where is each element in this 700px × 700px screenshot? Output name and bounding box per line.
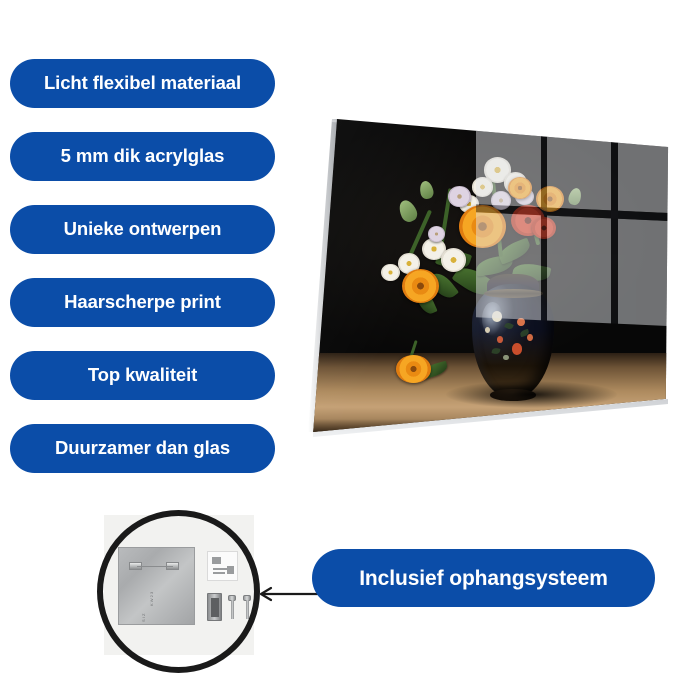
flower-lilac bbox=[428, 226, 445, 242]
mounting-hardware-circle: K W 2 3 S I Z bbox=[97, 510, 260, 673]
flower-daisy bbox=[381, 264, 400, 281]
feature-pill-label: Duurzamer dan glas bbox=[55, 439, 230, 458]
feature-pill-label: 5 mm dik acrylglas bbox=[61, 147, 225, 166]
circle-outline bbox=[97, 510, 260, 673]
feature-pill-label: Licht flexibel materiaal bbox=[44, 74, 241, 93]
vase-rim bbox=[484, 289, 543, 298]
callout-pill-hanging-system[interactable]: Inclusief ophangsysteem bbox=[312, 549, 655, 607]
flower-marigold-fallen bbox=[396, 355, 431, 383]
vase-motif bbox=[497, 336, 504, 343]
flower-daisy bbox=[472, 177, 493, 196]
vase-motif bbox=[503, 355, 509, 361]
vase-motif bbox=[527, 334, 533, 341]
feature-pill-5[interactable]: Top kwaliteit bbox=[10, 351, 275, 400]
product-marketing-graphic: Licht flexibel materiaal 5 mm dik acrylg… bbox=[0, 0, 700, 700]
feature-pill-6[interactable]: Duurzamer dan glas bbox=[10, 424, 275, 473]
flower-daisy bbox=[441, 248, 466, 271]
feature-pill-label: Haarscherpe print bbox=[64, 293, 221, 312]
artwork-canvas bbox=[305, 98, 677, 443]
flower-marigold bbox=[459, 205, 506, 248]
arrow-left-icon bbox=[252, 586, 322, 602]
flower-marigold bbox=[402, 269, 439, 304]
acrylic-glass-panel bbox=[305, 98, 677, 443]
flower-lilac bbox=[448, 186, 470, 207]
feature-pill-label: Top kwaliteit bbox=[88, 366, 197, 385]
feature-pill-1[interactable]: Licht flexibel materiaal bbox=[10, 59, 275, 108]
feature-pill-2[interactable]: 5 mm dik acrylglas bbox=[10, 132, 275, 181]
callout-pill-label: Inclusief ophangsysteem bbox=[359, 568, 608, 589]
feature-pill-label: Unieke ontwerpen bbox=[64, 220, 222, 239]
vase-motif bbox=[517, 318, 524, 326]
ceramic-vase bbox=[472, 274, 554, 398]
feature-pill-4[interactable]: Haarscherpe print bbox=[10, 278, 275, 327]
vase-motif bbox=[512, 343, 523, 354]
flower-red-gerbera bbox=[532, 217, 556, 239]
flower-marigold bbox=[536, 186, 564, 212]
flower-marigold bbox=[508, 177, 532, 199]
vase-motif-leaf bbox=[492, 347, 501, 354]
artwork-print bbox=[305, 98, 677, 443]
vase-motif bbox=[492, 311, 502, 321]
feature-pill-3[interactable]: Unieke ontwerpen bbox=[10, 205, 275, 254]
vase-motif-leaf bbox=[504, 321, 514, 330]
